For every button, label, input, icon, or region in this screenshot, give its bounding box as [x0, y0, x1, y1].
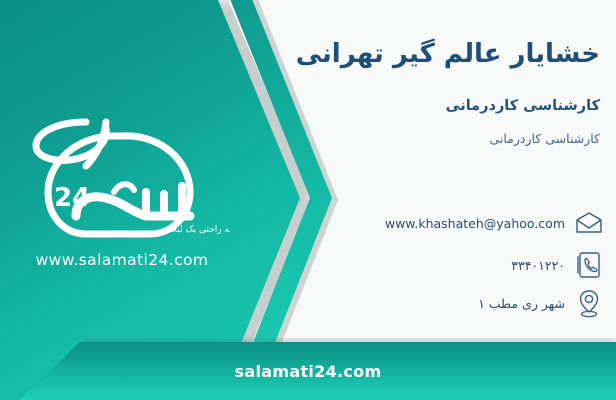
contact-row-phone[interactable]: ۳۳۴۰۱۲۲۰: [511, 250, 604, 280]
logo-badge-24: 24: [54, 183, 90, 213]
envelope-icon: [574, 208, 604, 238]
person-role-primary: کارشناسی کاردرمانی: [310, 98, 600, 114]
footer-website: salamati24.com: [0, 342, 616, 400]
apple-outline-logo: 24 به راحتی یک لبخند: [14, 108, 230, 248]
email-text: www.khashateh@yahoo.com: [385, 216, 565, 231]
phone-book-icon: [574, 250, 604, 280]
brand-logo: 24 به راحتی یک لبخند www.salamati24.com: [14, 108, 230, 278]
contact-row-email[interactable]: www.khashateh@yahoo.com: [385, 208, 604, 238]
footer-bar: salamati24.com: [0, 342, 616, 400]
business-card: 24 به راحتی یک لبخند www.salamati24.com …: [0, 0, 616, 400]
person-role-secondary: کارشناسی کاردرمانی: [310, 131, 600, 146]
logo-tagline: به راحتی یک لبخند: [164, 225, 230, 235]
person-name: خشایار عالم گیر تهرانی: [310, 38, 600, 71]
address-text: شهر ری مطب ۱: [478, 296, 565, 311]
phone-number: ۳۳۴۰۱۲۲۰: [511, 258, 565, 273]
logo-website: www.salamati24.com: [14, 251, 230, 269]
location-pin-icon: [574, 288, 604, 318]
contact-row-address[interactable]: شهر ری مطب ۱: [478, 288, 604, 318]
